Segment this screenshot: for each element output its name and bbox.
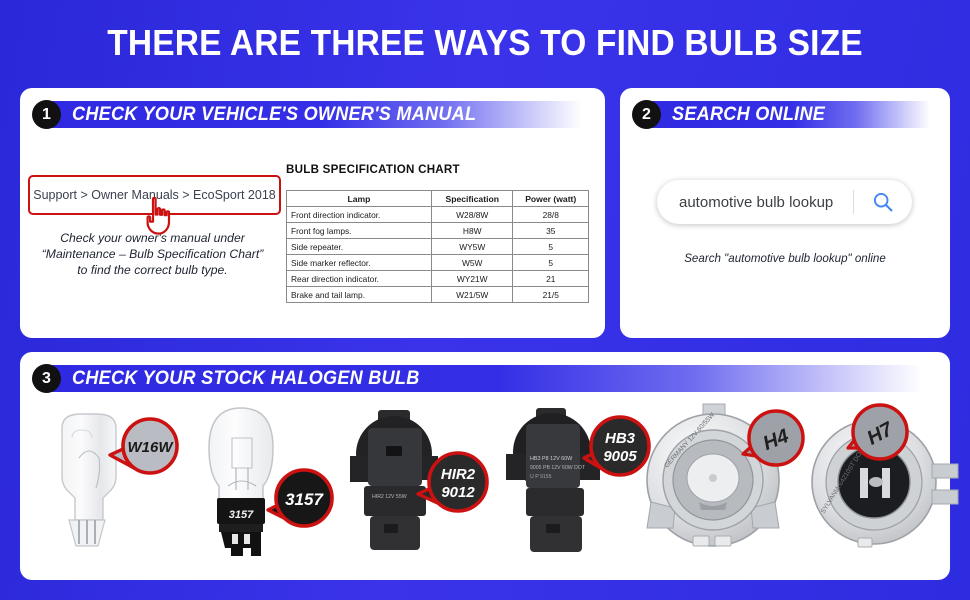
infographic-canvas: THERE ARE THREE WAYS TO FIND BULB SIZE 1… bbox=[0, 0, 970, 600]
cell-power: 28/8 bbox=[513, 207, 589, 223]
bulb-glass-envelope bbox=[209, 408, 273, 500]
svg-text:9005 PB 12V 60W DOT: 9005 PB 12V 60W DOT bbox=[530, 465, 586, 471]
search-input[interactable]: automotive bulb lookup bbox=[657, 194, 853, 211]
bulb-item-hb3-9005[interactable]: HB3 P8 12V 60W 9005 PB 12V 60W DOT U P 9… bbox=[492, 398, 642, 570]
callout-bubble-w16w: W16W bbox=[110, 419, 177, 473]
cell-spec: WY21W bbox=[431, 271, 513, 287]
table-header-row: Lamp Specification Power (watt) bbox=[287, 191, 589, 207]
panel-1-heading: CHECK YOUR VEHICLE'S OWNER'S MANUAL bbox=[72, 101, 476, 128]
table-row: Brake and tail lamp.W21/5W21/5 bbox=[287, 287, 589, 303]
cell-power: 21 bbox=[513, 271, 589, 287]
cell-power: 5 bbox=[513, 239, 589, 255]
bulb-item-3157[interactable]: 3157 3157 bbox=[188, 398, 338, 570]
cell-lamp: Rear direction indicator. bbox=[287, 271, 432, 287]
table-row: Front direction indicator.W28/8W28/8 bbox=[287, 207, 589, 223]
table-row: Rear direction indicator.WY21W21 bbox=[287, 271, 589, 287]
search-icon bbox=[872, 191, 894, 213]
search-bar[interactable]: automotive bulb lookup bbox=[657, 180, 912, 224]
base-printed-code: HIR2 12V 55W bbox=[372, 494, 407, 500]
base-printed-code: HB3 P8 12V 60W bbox=[530, 456, 573, 462]
table-body: Front direction indicator.W28/8W28/8 Fro… bbox=[287, 207, 589, 303]
panel-3-header: 3 CHECK YOUR STOCK HALOGEN BULB bbox=[20, 365, 950, 392]
callout-label-line-1: HIR2 bbox=[441, 466, 476, 483]
callout-bubble-3157: 3157 bbox=[268, 470, 332, 526]
bulb-item-w16w[interactable]: W16W bbox=[38, 398, 188, 570]
col-header-power: Power (watt) bbox=[513, 191, 589, 207]
bulb-plastic-body: HIR2 12V 55W bbox=[350, 410, 438, 550]
col-header-specification: Specification bbox=[431, 191, 513, 207]
svg-text:U P 9155: U P 9155 bbox=[530, 474, 552, 480]
cell-spec: WY5W bbox=[431, 239, 513, 255]
cell-spec: W21/5W bbox=[431, 287, 513, 303]
bulb-glass-envelope bbox=[62, 414, 116, 520]
callout-bubble-h4: H4 bbox=[743, 411, 803, 465]
search-online-caption: Search "automotive bulb lookup" online bbox=[640, 252, 930, 265]
cell-lamp: Side repeater. bbox=[287, 239, 432, 255]
step-number-badge: 1 bbox=[32, 100, 61, 129]
table-row: Side marker reflector.W5W5 bbox=[287, 255, 589, 271]
cell-spec: W5W bbox=[431, 255, 513, 271]
pointing-hand-cursor-icon bbox=[141, 196, 175, 236]
search-button[interactable] bbox=[854, 191, 912, 213]
owners-manual-caption: Check your owner's manual under “Mainten… bbox=[20, 230, 285, 278]
step-number-badge: 3 bbox=[32, 364, 61, 393]
bulb-item-h4[interactable]: GERMANY 12V 60/55W H4 bbox=[645, 398, 815, 570]
callout-label-line-2: 9012 bbox=[441, 484, 475, 501]
cell-power: 5 bbox=[513, 255, 589, 271]
cell-lamp: Brake and tail lamp. bbox=[287, 287, 432, 303]
callout-label-line-1: HB3 bbox=[605, 430, 636, 447]
bulb-wedge-base bbox=[69, 520, 105, 546]
panel-1-header: 1 CHECK YOUR VEHICLE'S OWNER'S MANUAL bbox=[20, 101, 605, 128]
bulb-item-hir2-9012[interactable]: HIR2 12V 55W HIR2 9012 bbox=[340, 398, 490, 570]
panel-2-header: 2 SEARCH ONLINE bbox=[620, 101, 950, 128]
panel-3-heading: CHECK YOUR STOCK HALOGEN BULB bbox=[72, 365, 420, 392]
panel-2-heading: SEARCH ONLINE bbox=[672, 101, 825, 128]
bulb-plastic-base: 3157 bbox=[217, 498, 265, 556]
cell-power: 21/5 bbox=[513, 287, 589, 303]
table-row: Front fog lamps.H8W35 bbox=[287, 223, 589, 239]
base-printed-code: 3157 bbox=[229, 509, 254, 521]
callout-label: 3157 bbox=[285, 490, 324, 509]
cell-spec: W28/8W bbox=[431, 207, 513, 223]
cell-spec: H8W bbox=[431, 223, 513, 239]
callout-label: W16W bbox=[128, 439, 175, 456]
caption-line-3: to find the correct bulb type. bbox=[20, 262, 285, 278]
bulb-specification-table: Lamp Specification Power (watt) Front di… bbox=[286, 190, 589, 303]
cell-lamp: Side marker reflector. bbox=[287, 255, 432, 271]
bulb-plastic-body: HB3 P8 12V 60W 9005 PB 12V 60W DOT U P 9… bbox=[506, 408, 600, 552]
col-header-lamp: Lamp bbox=[287, 191, 432, 207]
caption-line-2: “Maintenance – Bulb Specification Chart” bbox=[20, 246, 285, 262]
cell-lamp: Front fog lamps. bbox=[287, 223, 432, 239]
table-row: Side repeater.WY5W5 bbox=[287, 239, 589, 255]
bulb-gallery: W16W bbox=[20, 398, 950, 570]
bulb-item-h7[interactable]: SYLVANIA 64210ST DOT H7 bbox=[802, 398, 970, 570]
step-number-badge: 2 bbox=[632, 100, 661, 129]
callout-label-line-2: 9005 bbox=[603, 448, 637, 465]
spec-chart-title: BULB SPECIFICATION CHART bbox=[286, 163, 460, 176]
page-title: THERE ARE THREE WAYS TO FIND BULB SIZE bbox=[34, 22, 936, 64]
cell-lamp: Front direction indicator. bbox=[287, 207, 432, 223]
cell-power: 35 bbox=[513, 223, 589, 239]
